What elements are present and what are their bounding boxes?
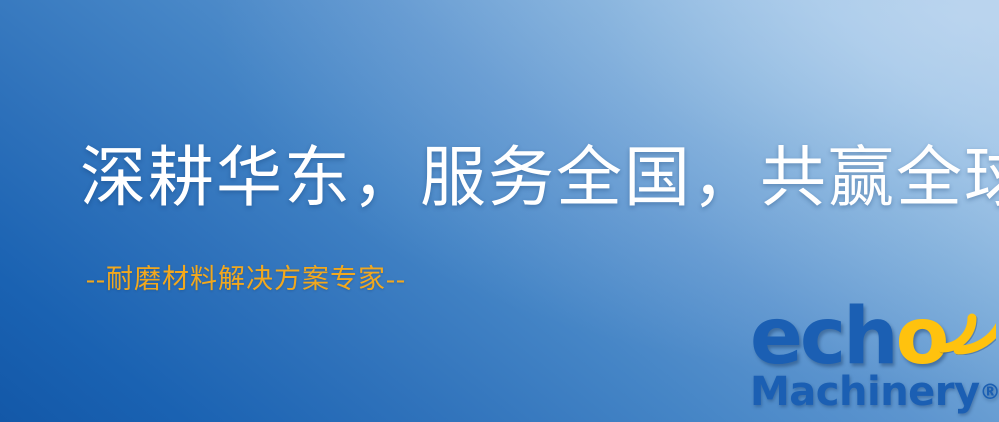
logo-tagline: Machinery®: [750, 372, 999, 412]
banner-subtitle: --耐磨材料解决方案专家--: [86, 266, 406, 293]
echo-wave-icon: [932, 293, 996, 355]
promo-banner: 深耕华东，服务全国，共赢全球 --耐磨材料解决方案专家-- echo Machi…: [0, 0, 999, 422]
logo-wordmark: echo: [748, 296, 994, 376]
banner-headline: 深耕华东，服务全国，共赢全球: [80, 146, 999, 212]
echo-machinery-logo: echo Machinery®: [748, 296, 994, 418]
logo-tagline-text: Machinery: [750, 369, 980, 415]
registered-trademark-icon: ®: [980, 380, 999, 404]
logo-echo-text: echo: [750, 298, 946, 376]
